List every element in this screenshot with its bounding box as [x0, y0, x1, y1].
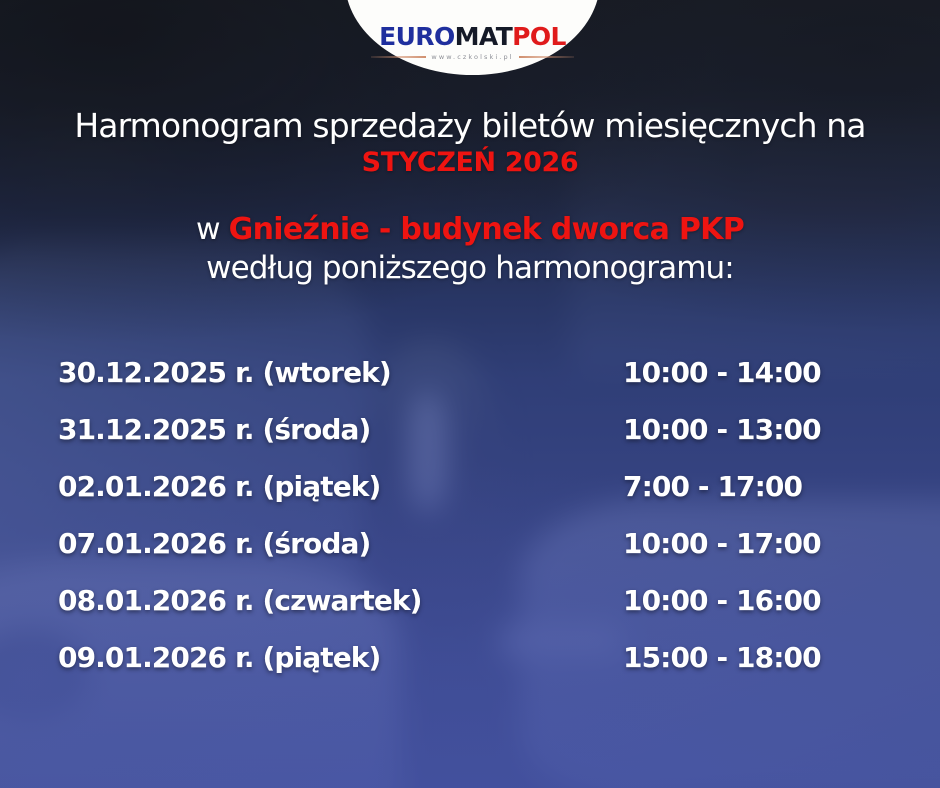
schedule-date: 08.01.2026 r. (czwartek): [58, 584, 623, 617]
subheading-note: według poniższego harmonogramu:: [0, 249, 940, 288]
schedule-date: 31.12.2025 r. (środa): [58, 413, 623, 446]
schedule-date: 07.01.2026 r. (środa): [58, 527, 623, 560]
schedule-row: 09.01.2026 r. (piątek) 15:00 - 18:00: [58, 641, 888, 698]
subheading-location: Gnieźnie - budynek dworca PKP: [229, 212, 744, 247]
logo-wordmark: EUROMATPOL: [345, 24, 600, 49]
poster-content: Harmonogram sprzedaży biletów miesięczny…: [0, 0, 940, 788]
poster-canvas: EUROMATPOL www.czkolski.pl Harmonogram s…: [0, 0, 940, 788]
schedule-time: 10:00 - 16:00: [623, 584, 821, 617]
schedule-row: 08.01.2026 r. (czwartek) 10:00 - 16:00: [58, 584, 888, 641]
schedule-row: 30.12.2025 r. (wtorek) 10:00 - 14:00: [58, 356, 888, 413]
schedule-time: 7:00 - 17:00: [623, 470, 802, 503]
subheading-prefix: w: [196, 212, 229, 247]
schedule-row: 31.12.2025 r. (środa) 10:00 - 13:00: [58, 413, 888, 470]
headline-primary: Harmonogram sprzedaży biletów miesięczny…: [0, 108, 940, 145]
schedule-list: 30.12.2025 r. (wtorek) 10:00 - 14:00 31.…: [58, 356, 888, 698]
schedule-date: 30.12.2025 r. (wtorek): [58, 356, 623, 389]
schedule-date: 09.01.2026 r. (piątek): [58, 641, 623, 674]
subheading-block: w Gnieźnie - budynek dworca PKP według p…: [0, 210, 940, 288]
subheading-location-line: w Gnieźnie - budynek dworca PKP: [0, 210, 940, 249]
logo-lockup: EUROMATPOL www.czkolski.pl: [345, 24, 600, 61]
logo-text-mat: MAT: [455, 22, 513, 51]
schedule-date: 02.01.2026 r. (piątek): [58, 470, 623, 503]
schedule-time: 10:00 - 13:00: [623, 413, 821, 446]
logo-text-pol: POL: [512, 22, 566, 51]
schedule-time: 10:00 - 14:00: [623, 356, 821, 389]
schedule-row: 02.01.2026 r. (piątek) 7:00 - 17:00: [58, 470, 888, 527]
headline-block: Harmonogram sprzedaży biletów miesięczny…: [0, 108, 940, 180]
headline-month: STYCZEŃ 2026: [0, 145, 940, 180]
schedule-row: 07.01.2026 r. (środa) 10:00 - 17:00: [58, 527, 888, 584]
logo-website: www.czkolski.pl: [431, 53, 513, 61]
logo-website-row: www.czkolski.pl: [345, 53, 600, 61]
schedule-time: 15:00 - 18:00: [623, 641, 821, 674]
logo-rule-right: [519, 56, 574, 58]
schedule-time: 10:00 - 17:00: [623, 527, 821, 560]
logo-text-euro: EURO: [379, 22, 454, 51]
logo-rule-left: [371, 56, 426, 58]
